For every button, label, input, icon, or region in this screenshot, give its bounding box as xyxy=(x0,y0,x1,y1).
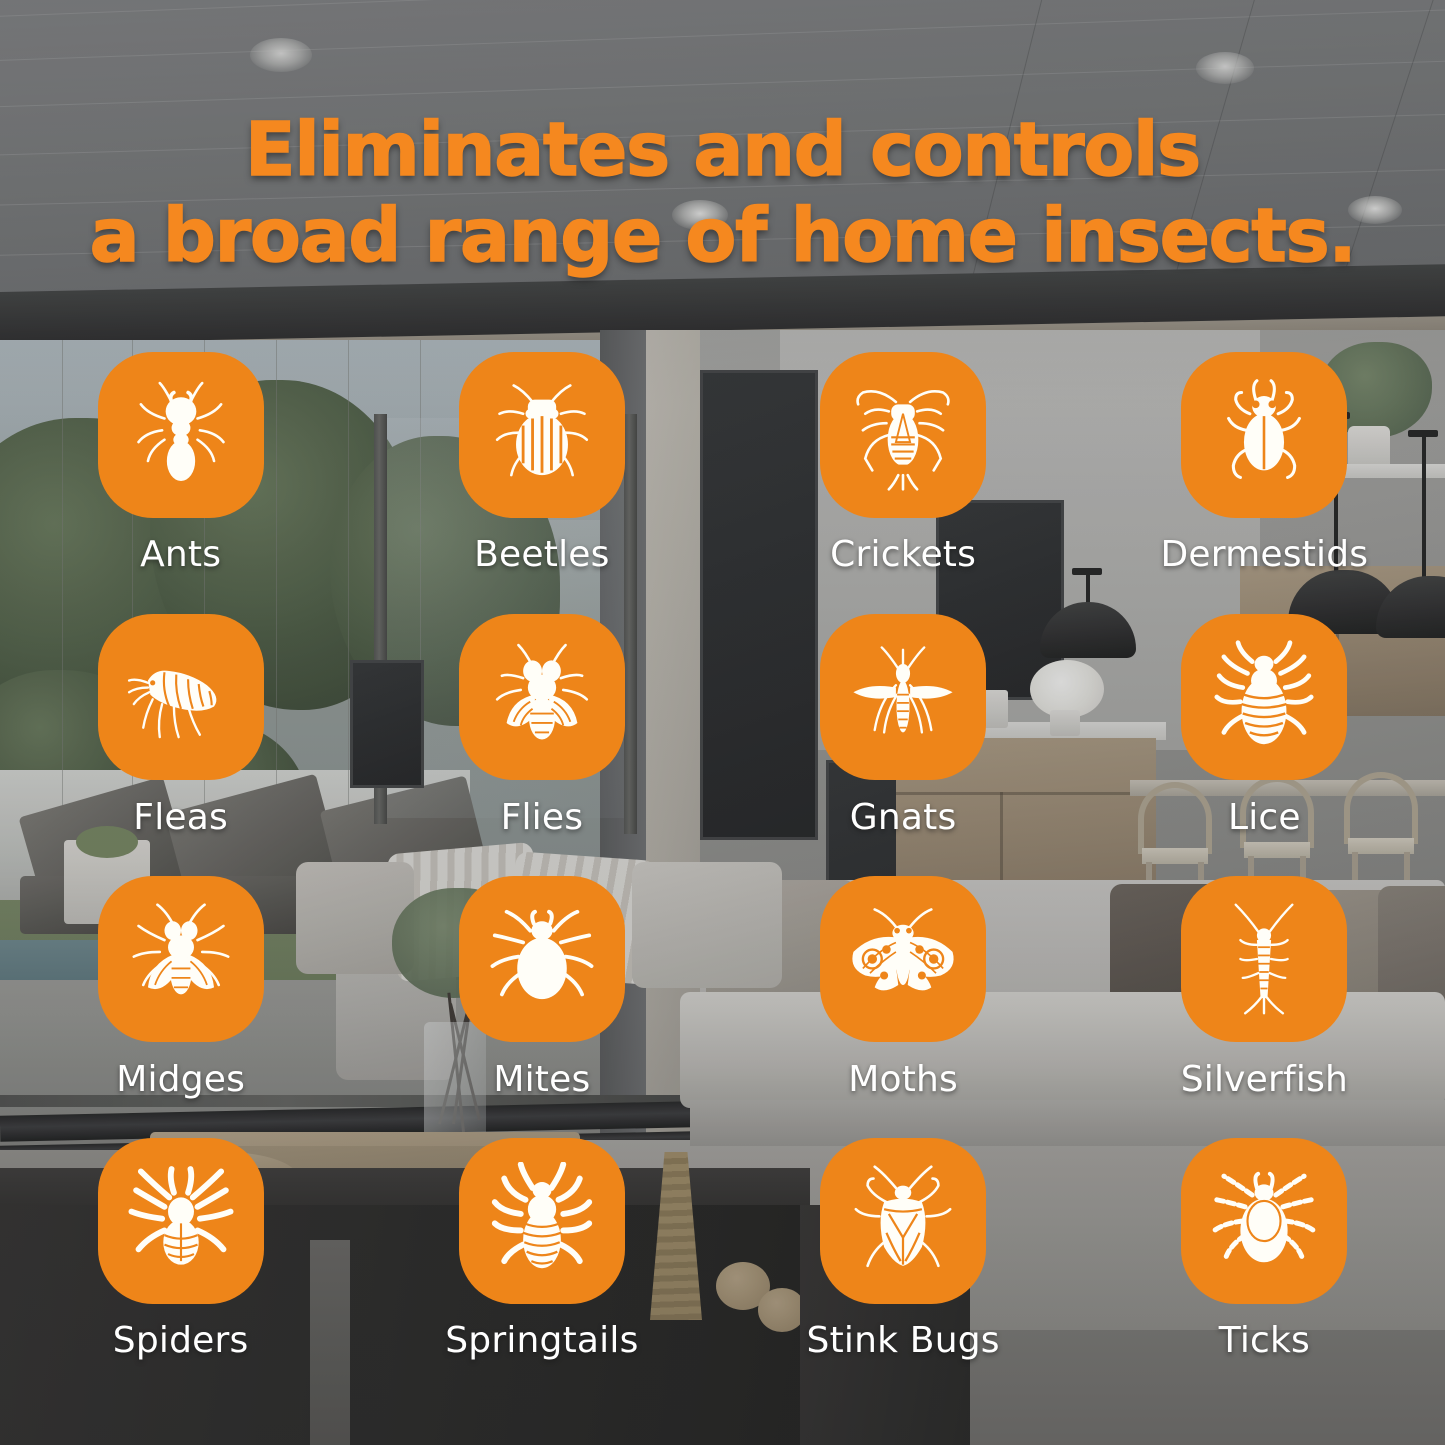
pest-card-gnats[interactable]: Gnats xyxy=(723,614,1084,876)
spider-tile[interactable] xyxy=(98,1138,264,1304)
flea-tile[interactable] xyxy=(98,614,264,780)
page-headline: Eliminates and controls a broad range of… xyxy=(0,108,1445,280)
tick-tile[interactable] xyxy=(1181,1138,1347,1304)
midge-tile[interactable] xyxy=(98,876,264,1042)
pest-label: Ticks xyxy=(1219,1320,1310,1361)
moth-tile[interactable] xyxy=(820,876,986,1042)
ant-tile[interactable] xyxy=(98,352,264,518)
louse-icon xyxy=(1205,638,1323,756)
pest-label: Dermestids xyxy=(1161,534,1369,575)
louse-tile[interactable] xyxy=(1181,614,1347,780)
pest-card-ants[interactable]: Ants xyxy=(0,352,361,614)
pest-label: Springtails xyxy=(445,1320,638,1361)
pest-label: Moths xyxy=(848,1059,958,1100)
stink-bug-icon xyxy=(844,1162,962,1280)
pest-card-stink-bugs[interactable]: Stink Bugs xyxy=(723,1138,1084,1400)
pest-label: Flies xyxy=(501,797,584,838)
tick-icon xyxy=(1205,1162,1323,1280)
pest-icon-grid: Ants xyxy=(0,352,1445,1400)
flea-icon xyxy=(122,638,240,756)
pest-card-springtails[interactable]: Springtails xyxy=(361,1138,722,1400)
dermestid-beetle-tile[interactable] xyxy=(1181,352,1347,518)
mite-icon xyxy=(483,900,601,1018)
pest-card-silverfish[interactable]: Silverfish xyxy=(1084,876,1445,1138)
springtail-tile[interactable] xyxy=(459,1138,625,1304)
dermestid-beetle-icon xyxy=(1205,376,1323,494)
pest-card-crickets[interactable]: Crickets xyxy=(723,352,1084,614)
silverfish-icon xyxy=(1205,900,1323,1018)
fly-tile[interactable] xyxy=(459,614,625,780)
mite-tile[interactable] xyxy=(459,876,625,1042)
headline-line-1: Eliminates and controls xyxy=(0,108,1445,194)
silverfish-tile[interactable] xyxy=(1181,876,1347,1042)
pest-card-ticks[interactable]: Ticks xyxy=(1084,1138,1445,1400)
gnat-icon xyxy=(844,638,962,756)
pest-label: Spiders xyxy=(113,1320,249,1361)
spider-icon xyxy=(122,1162,240,1280)
moth-icon xyxy=(844,900,962,1018)
pest-label: Beetles xyxy=(474,534,609,575)
pest-card-flies[interactable]: Flies xyxy=(361,614,722,876)
pest-label: Silverfish xyxy=(1181,1059,1348,1100)
stink-bug-tile[interactable] xyxy=(820,1138,986,1304)
cricket-tile[interactable] xyxy=(820,352,986,518)
midge-icon xyxy=(122,900,240,1018)
pest-card-mites[interactable]: Mites xyxy=(361,876,722,1138)
pest-label: Mites xyxy=(493,1059,590,1100)
pest-card-beetles[interactable]: Beetles xyxy=(361,352,722,614)
pest-card-spiders[interactable]: Spiders xyxy=(0,1138,361,1400)
pest-card-moths[interactable]: Moths xyxy=(723,876,1084,1138)
gnat-tile[interactable] xyxy=(820,614,986,780)
pest-label: Crickets xyxy=(830,534,976,575)
pest-label: Gnats xyxy=(850,797,957,838)
pest-label: Fleas xyxy=(133,797,228,838)
pest-label: Ants xyxy=(140,534,221,575)
beetle-tile[interactable] xyxy=(459,352,625,518)
pest-label: Stink Bugs xyxy=(807,1320,1000,1361)
pest-label: Midges xyxy=(116,1059,245,1100)
cricket-icon xyxy=(844,376,962,494)
fly-icon xyxy=(483,638,601,756)
ant-icon xyxy=(122,376,240,494)
pest-label: Lice xyxy=(1228,797,1301,838)
pest-card-dermestids[interactable]: Dermestids xyxy=(1084,352,1445,614)
beetle-icon xyxy=(483,376,601,494)
pest-card-midges[interactable]: Midges xyxy=(0,876,361,1138)
pest-card-fleas[interactable]: Fleas xyxy=(0,614,361,876)
springtail-icon xyxy=(483,1162,601,1280)
headline-line-2: a broad range of home insects. xyxy=(0,194,1445,280)
pest-card-lice[interactable]: Lice xyxy=(1084,614,1445,876)
